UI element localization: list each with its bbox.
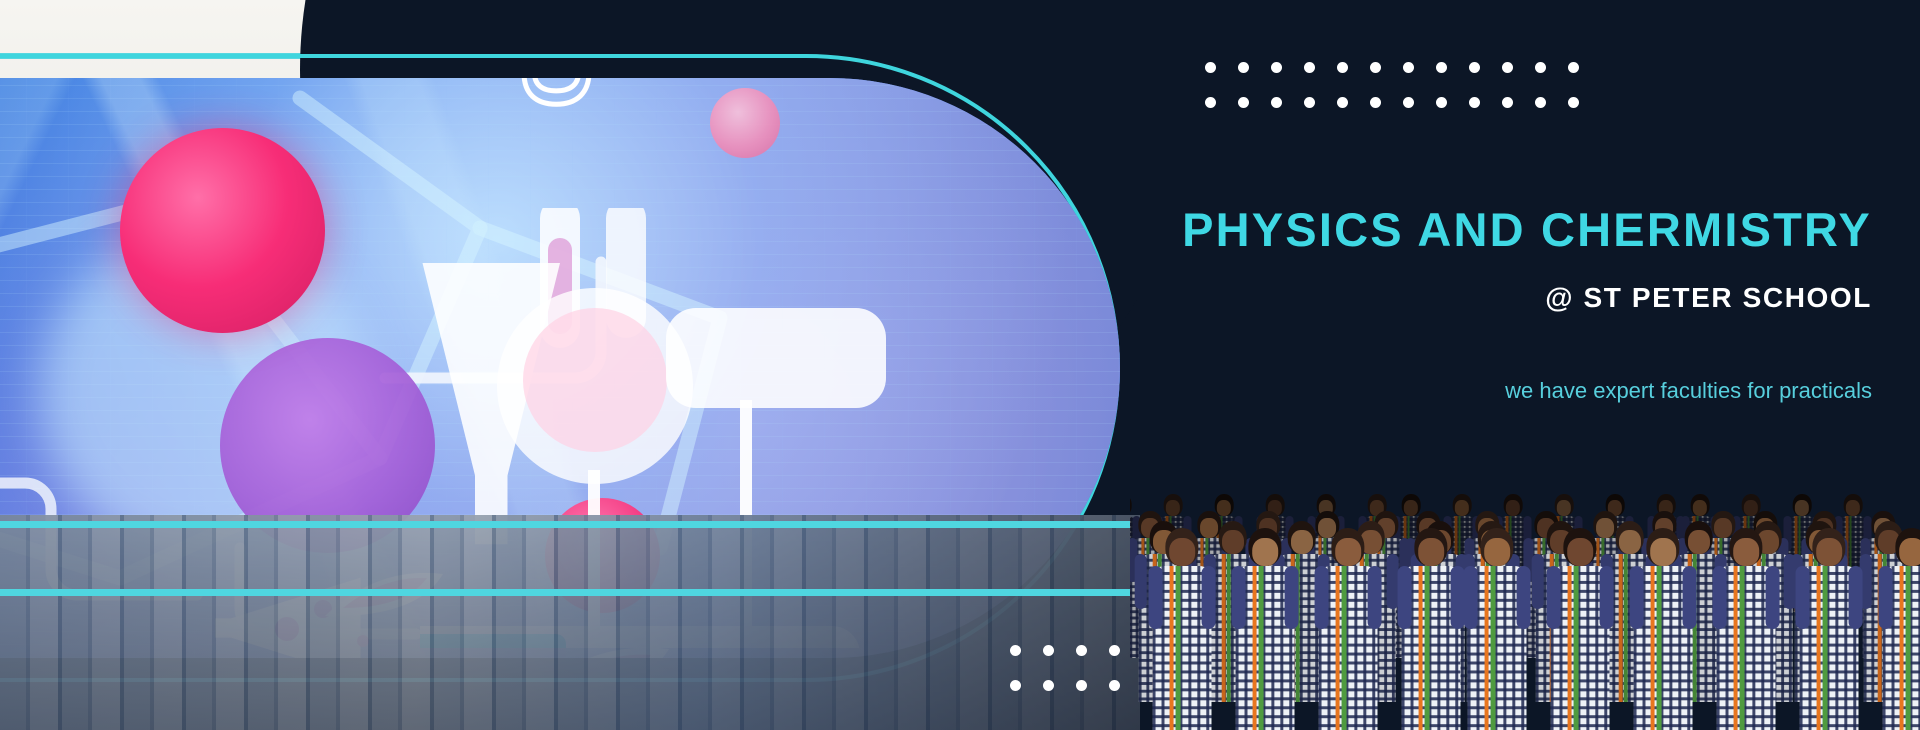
uniform-stripe-orange (1335, 566, 1339, 730)
decor-dot (1436, 97, 1447, 108)
uniform-sleeve (1201, 566, 1215, 629)
decor-dot (1205, 97, 1216, 108)
right-content-panel: PHYSICS AND CHERMISTRY @ ST PETER SCHOOL… (1140, 0, 1920, 730)
decor-dot (1109, 680, 1120, 691)
decor-dot (1502, 97, 1513, 108)
student-figure (1548, 528, 1612, 730)
page-subtitle: @ ST PETER SCHOOL (1545, 282, 1872, 314)
student-uniform (1402, 566, 1461, 730)
decor-dot (1076, 680, 1087, 691)
student-uniform (1800, 566, 1859, 730)
student-face (1169, 538, 1195, 566)
student-figure (1150, 528, 1214, 730)
student-uniform (1634, 566, 1693, 730)
uniform-sleeve (1796, 566, 1810, 629)
uniform-stripe-orange (1899, 566, 1903, 730)
uniform-sleeve (1682, 566, 1696, 629)
uniform-sleeve (1765, 566, 1779, 629)
decor-dot (1304, 62, 1315, 73)
uniform-stripe-green (1425, 566, 1429, 730)
student-face (1846, 500, 1860, 516)
uniform-stripe-green (1227, 554, 1231, 702)
page-tagline: we have expert faculties for practicals (1505, 378, 1872, 404)
decor-dot (1109, 645, 1120, 656)
decor-dot (1568, 62, 1579, 73)
uniform-sleeve (1149, 566, 1163, 629)
uniform-sleeve (1464, 566, 1478, 629)
student-face (1899, 538, 1920, 566)
uniform-stripe-orange (1650, 566, 1654, 730)
decor-dot (1535, 97, 1546, 108)
decor-dot (1568, 97, 1579, 108)
decor-dot (1076, 645, 1087, 656)
student-uniform (1319, 566, 1378, 730)
uniform-stripe-orange (1567, 566, 1571, 730)
uniform-sleeve (1532, 554, 1544, 608)
uniform-sleeve (1630, 566, 1644, 629)
student-uniform (1883, 566, 1920, 730)
student-figure (1233, 528, 1297, 730)
decor-dot (1469, 97, 1480, 108)
uniform-stripe-orange (1418, 566, 1422, 730)
uniform-stripe-orange (1484, 566, 1488, 730)
pink-sphere-large (120, 128, 325, 333)
uniform-stripe-green (1657, 566, 1661, 730)
student-face (1816, 538, 1842, 566)
uniform-stripe-green (1259, 566, 1263, 730)
decor-dot (1271, 62, 1282, 73)
dot-grid-top (1205, 62, 1601, 132)
uniform-stripe-orange (1733, 566, 1737, 730)
decor-dot (1370, 62, 1381, 73)
decor-dot (1043, 645, 1054, 656)
uniform-stripe-orange (1169, 566, 1173, 730)
uniform-stripe-green (1574, 566, 1578, 730)
uniform-sleeve (1315, 566, 1329, 629)
city-band-line-1 (0, 521, 1140, 528)
uniform-stripe-green (1624, 554, 1628, 702)
uniform-stripe-orange (1816, 566, 1820, 730)
horizontal-tube-icon (666, 308, 886, 408)
student-figure (1880, 528, 1920, 730)
student-uniform (1717, 566, 1776, 730)
uniform-stripe-orange (1619, 554, 1623, 702)
uniform-sleeve (1713, 566, 1727, 629)
decor-dot (1304, 97, 1315, 108)
cityscape-photo (0, 515, 1140, 730)
uniform-stripe-green (1740, 566, 1744, 730)
decor-dot (1403, 97, 1414, 108)
uniform-sleeve (1848, 566, 1862, 629)
uniform-stripe-green (1823, 566, 1827, 730)
uniform-sleeve (1284, 566, 1298, 629)
student-face (1418, 538, 1444, 566)
student-figure (1631, 528, 1695, 730)
left-art-panel: CH2 CO (0, 0, 1140, 730)
pink-sphere-tiny (710, 88, 780, 158)
student-figure (1399, 528, 1463, 730)
student-figure (1714, 528, 1778, 730)
student-face (1733, 538, 1759, 566)
decor-dot (1010, 645, 1021, 656)
student-face (1252, 538, 1278, 566)
decor-dot (1238, 97, 1249, 108)
uniform-sleeve (1599, 566, 1613, 629)
uniform-sleeve (1450, 566, 1464, 629)
student-face (1484, 538, 1510, 566)
decor-dot (1403, 62, 1414, 73)
uniform-sleeve (1879, 566, 1893, 629)
student-figure (1316, 528, 1380, 730)
decor-dot (1469, 62, 1480, 73)
decor-dot (1436, 62, 1447, 73)
cityscape-overlay (0, 515, 1140, 730)
uniform-stripe-green (1342, 566, 1346, 730)
co-label: CO (505, 78, 610, 108)
students-group-photo (1130, 410, 1920, 730)
banner-root: CH2 CO PHYSICS AND CHERMISTRY @ ST PETER… (0, 0, 1920, 730)
student-uniform (1468, 566, 1527, 730)
decor-dot (1370, 97, 1381, 108)
uniform-sleeve (1547, 566, 1561, 629)
student-uniform (1236, 566, 1295, 730)
uniform-sleeve (1135, 554, 1147, 608)
student-uniform (1551, 566, 1610, 730)
uniform-sleeve (1367, 566, 1381, 629)
student-face (1567, 538, 1593, 566)
uniform-stripe-green (1491, 566, 1495, 730)
student-figure (1797, 528, 1861, 730)
student-uniform (1153, 566, 1212, 730)
decor-dot (1337, 97, 1348, 108)
decor-dot (1238, 62, 1249, 73)
dot-grid-bottom (1010, 645, 1142, 715)
uniform-stripe-orange (1222, 554, 1226, 702)
student-figure (1465, 528, 1529, 730)
city-band-line-2 (0, 589, 1140, 596)
student-face (1335, 538, 1361, 566)
decor-dot (1205, 62, 1216, 73)
decor-dot (1502, 62, 1513, 73)
uniform-stripe-orange (1252, 566, 1256, 730)
uniform-stripe-green (1906, 566, 1910, 730)
decor-dot (1337, 62, 1348, 73)
uniform-sleeve (1232, 566, 1246, 629)
decor-dot (1535, 62, 1546, 73)
decor-dot (1010, 680, 1021, 691)
page-title: PHYSICS AND CHERMISTRY (1182, 202, 1872, 257)
decor-dot (1043, 680, 1054, 691)
uniform-sleeve (1516, 566, 1530, 629)
uniform-stripe-green (1176, 566, 1180, 730)
uniform-sleeve (1398, 566, 1412, 629)
decor-dot (1271, 97, 1282, 108)
student-face (1650, 538, 1676, 566)
